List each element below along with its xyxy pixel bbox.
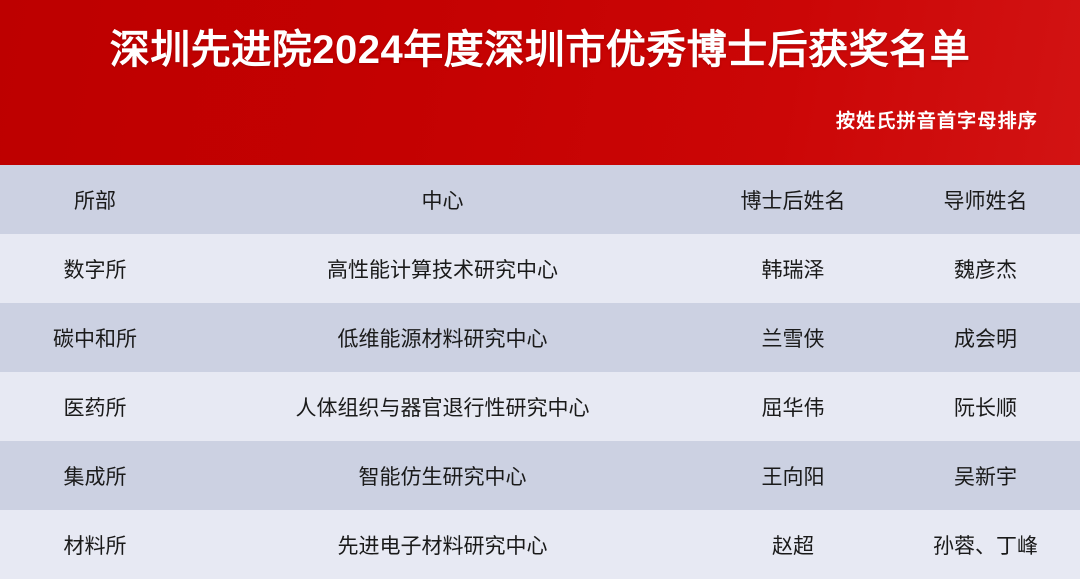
table-header-row: 所部 中心 博士后姓名 导师姓名 xyxy=(0,165,1080,234)
cell-mentor: 成会明 xyxy=(891,303,1080,372)
cell-mentor: 吴新宇 xyxy=(891,441,1080,510)
column-header-postdoc: 博士后姓名 xyxy=(695,165,891,234)
cell-dept: 医药所 xyxy=(0,372,190,441)
cell-postdoc: 韩瑞泽 xyxy=(695,234,891,303)
cell-center: 人体组织与器官退行性研究中心 xyxy=(190,372,695,441)
table-row: 医药所 人体组织与器官退行性研究中心 屈华伟 阮长顺 xyxy=(0,372,1080,441)
cell-dept: 数字所 xyxy=(0,234,190,303)
cell-mentor: 阮长顺 xyxy=(891,372,1080,441)
award-list-page: 深圳先进院2024年度深圳市优秀博士后获奖名单 按姓氏拼音首字母排序 所部 中心… xyxy=(0,0,1080,580)
award-table: 所部 中心 博士后姓名 导师姓名 数字所 高性能计算技术研究中心 韩瑞泽 魏彦杰… xyxy=(0,165,1080,579)
table-body: 数字所 高性能计算技术研究中心 韩瑞泽 魏彦杰 碳中和所 低维能源材料研究中心 … xyxy=(0,234,1080,579)
column-header-mentor: 导师姓名 xyxy=(891,165,1080,234)
cell-dept: 碳中和所 xyxy=(0,303,190,372)
cell-mentor: 孙蓉、丁峰 xyxy=(891,510,1080,579)
table-header: 所部 中心 博士后姓名 导师姓名 xyxy=(0,165,1080,234)
cell-center: 高性能计算技术研究中心 xyxy=(190,234,695,303)
cell-postdoc: 兰雪侠 xyxy=(695,303,891,372)
cell-mentor: 魏彦杰 xyxy=(891,234,1080,303)
banner-subtitle: 按姓氏拼音首字母排序 xyxy=(836,106,1038,133)
cell-center: 先进电子材料研究中心 xyxy=(190,510,695,579)
cell-center: 智能仿生研究中心 xyxy=(190,441,695,510)
cell-postdoc: 屈华伟 xyxy=(695,372,891,441)
table-row: 集成所 智能仿生研究中心 王向阳 吴新宇 xyxy=(0,441,1080,510)
table-row: 材料所 先进电子材料研究中心 赵超 孙蓉、丁峰 xyxy=(0,510,1080,579)
table-row: 数字所 高性能计算技术研究中心 韩瑞泽 魏彦杰 xyxy=(0,234,1080,303)
cell-postdoc: 王向阳 xyxy=(695,441,891,510)
cell-dept: 材料所 xyxy=(0,510,190,579)
column-header-center: 中心 xyxy=(190,165,695,234)
column-header-dept: 所部 xyxy=(0,165,190,234)
page-banner: 深圳先进院2024年度深圳市优秀博士后获奖名单 按姓氏拼音首字母排序 xyxy=(0,0,1080,165)
page-title: 深圳先进院2024年度深圳市优秀博士后获奖名单 xyxy=(0,26,1080,74)
cell-postdoc: 赵超 xyxy=(695,510,891,579)
table-row: 碳中和所 低维能源材料研究中心 兰雪侠 成会明 xyxy=(0,303,1080,372)
cell-dept: 集成所 xyxy=(0,441,190,510)
cell-center: 低维能源材料研究中心 xyxy=(190,303,695,372)
